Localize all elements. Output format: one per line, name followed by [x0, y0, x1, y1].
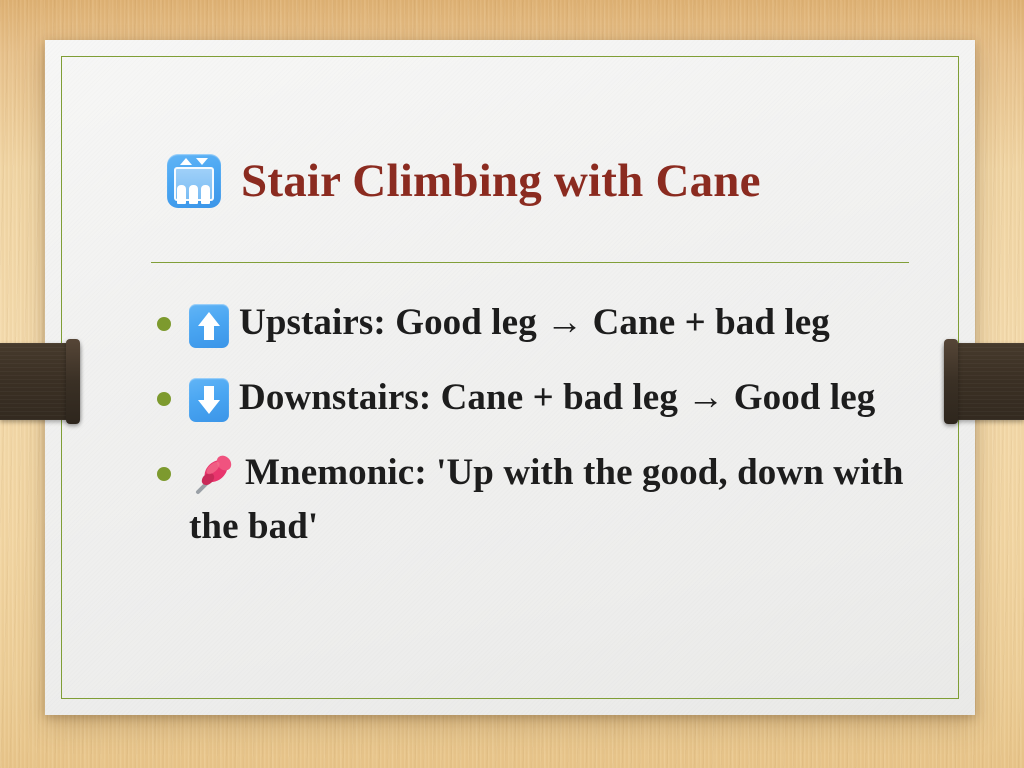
list-item: Upstairs: Good leg → Cane + bad leg: [149, 296, 917, 351]
up-arrow-icon: [189, 304, 229, 348]
slide-content: Stair Climbing with Cane Upstairs: Good …: [61, 56, 959, 699]
presentation-slide: Stair Climbing with Cane Upstairs: Good …: [45, 40, 975, 715]
bullet-dot-icon: [157, 392, 171, 406]
list-item: Downstairs: Cane + bad leg → Good leg: [149, 371, 917, 426]
binder-strap-cap-right: [944, 339, 958, 424]
bullet-dot-icon: [157, 467, 171, 481]
bullet-dot-icon: [157, 317, 171, 331]
list-item-label: Mnemonic: 'Up with the good, down with t…: [189, 452, 904, 548]
binder-strap-cap-left: [66, 339, 80, 424]
list-item-label: Upstairs: Good leg → Cane + bad leg: [239, 302, 830, 343]
list-item-label: Downstairs: Cane + bad leg → Good leg: [239, 377, 875, 418]
pushpin-icon: [189, 452, 235, 498]
slide-title-row: Stair Climbing with Cane: [167, 154, 761, 208]
title-divider: [151, 262, 909, 263]
page-title: Stair Climbing with Cane: [241, 158, 761, 205]
down-arrow-icon: [189, 378, 229, 422]
list-item: Mnemonic: 'Up with the good, down with t…: [149, 446, 917, 556]
elevator-icon: [167, 154, 221, 208]
bullet-list: Upstairs: Good leg → Cane + bad leg Down…: [149, 296, 917, 575]
